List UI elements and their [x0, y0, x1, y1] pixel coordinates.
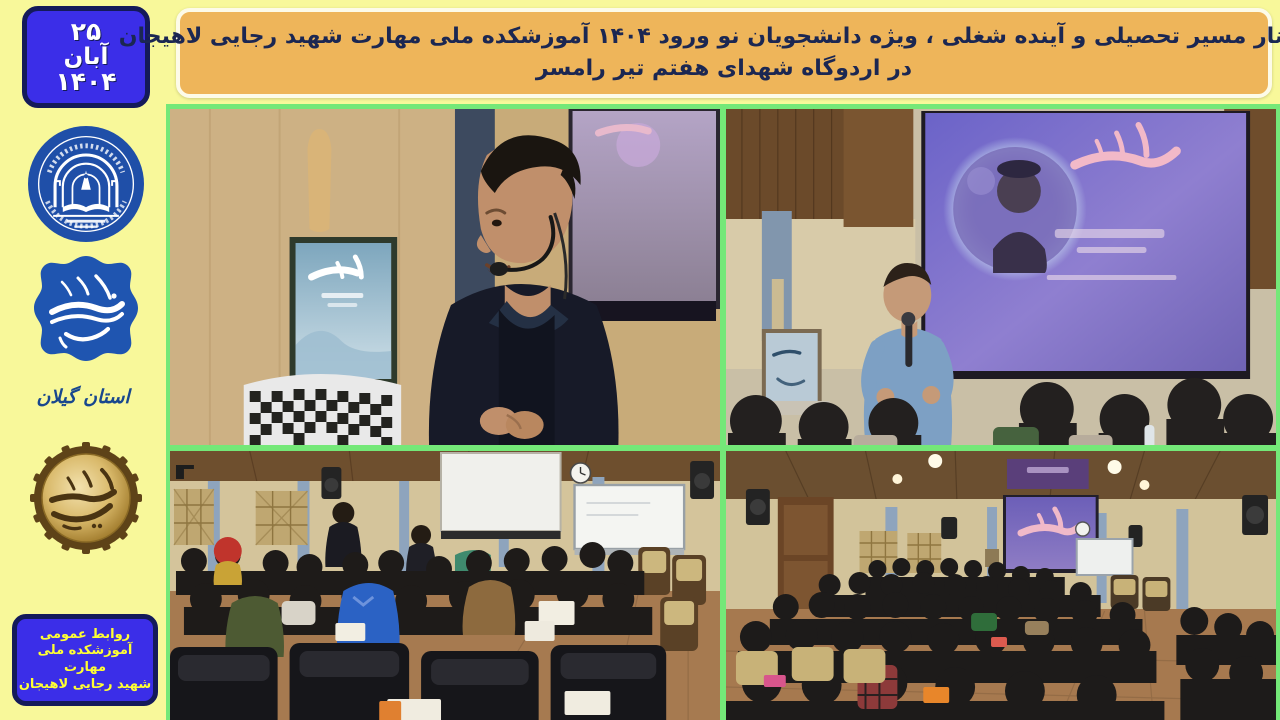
date-year: ۱۴۰۴ — [55, 69, 116, 95]
date-month: آبان — [64, 45, 109, 69]
public-relations-box: روابط عمومی آموزشکده ملی مهارت شهید رجای… — [12, 614, 158, 706]
photo-bottom-left — [726, 451, 1276, 720]
title-line-2: در اردوگاه شهدای هفتم تیر رامسر — [536, 53, 912, 85]
photo-top-left — [726, 109, 1276, 445]
pr-line-3: شهید رجایی لاهیجان — [19, 677, 151, 694]
national-skills-university-logo — [26, 252, 146, 380]
year-motto-gear-logo — [30, 442, 142, 554]
pr-line-1: روابط عمومی — [40, 627, 130, 644]
date-day: ۲۵ — [71, 19, 102, 45]
sidebar: ۲۵ آبان ۱۴۰۴ — [0, 0, 166, 720]
title-banner: سمینار مسیر تحصیلی و آینده شغلی ، ویژه د… — [176, 8, 1272, 98]
pr-line-2: آموزشکده ملی مهارت — [17, 643, 153, 676]
photo-top-right — [170, 109, 720, 445]
university-seal-logo — [28, 126, 144, 242]
photo-grid — [166, 104, 1280, 720]
seminar-poster: ۲۵ آبان ۱۴۰۴ — [0, 0, 1280, 720]
photo-bottom-right — [170, 451, 720, 720]
title-line-1: سمینار مسیر تحصیلی و آینده شغلی ، ویژه د… — [119, 21, 1280, 53]
logo-province-caption: استان گیلان — [0, 386, 166, 408]
